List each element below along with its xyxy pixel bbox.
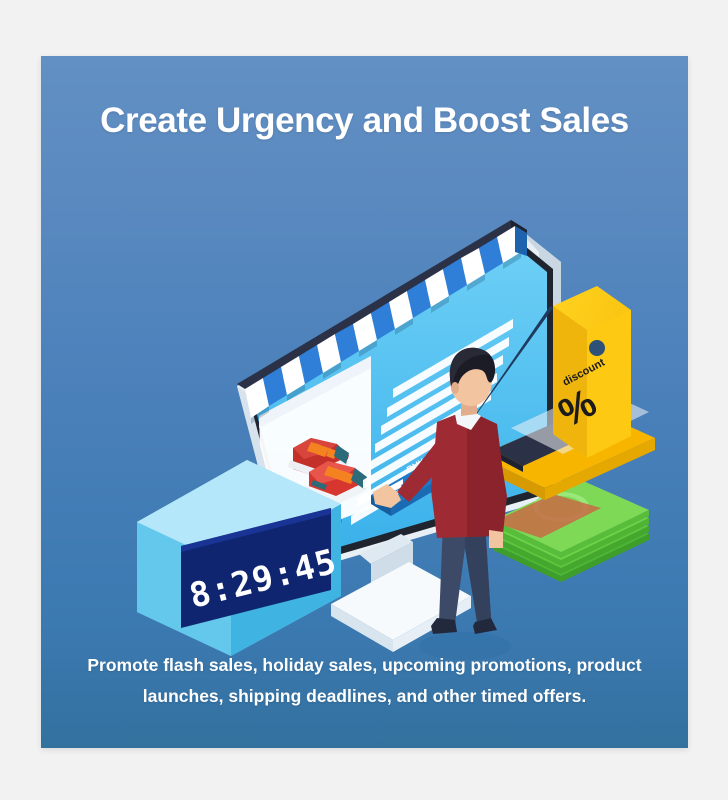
promo-card: BUY IT: [41, 56, 688, 748]
page-caption: Promote flash sales, holiday sales, upco…: [71, 650, 658, 712]
screenshot-root: BUY IT: [0, 0, 728, 800]
isometric-illustration: BUY IT: [41, 56, 688, 748]
page-title: Create Urgency and Boost Sales: [41, 101, 688, 141]
